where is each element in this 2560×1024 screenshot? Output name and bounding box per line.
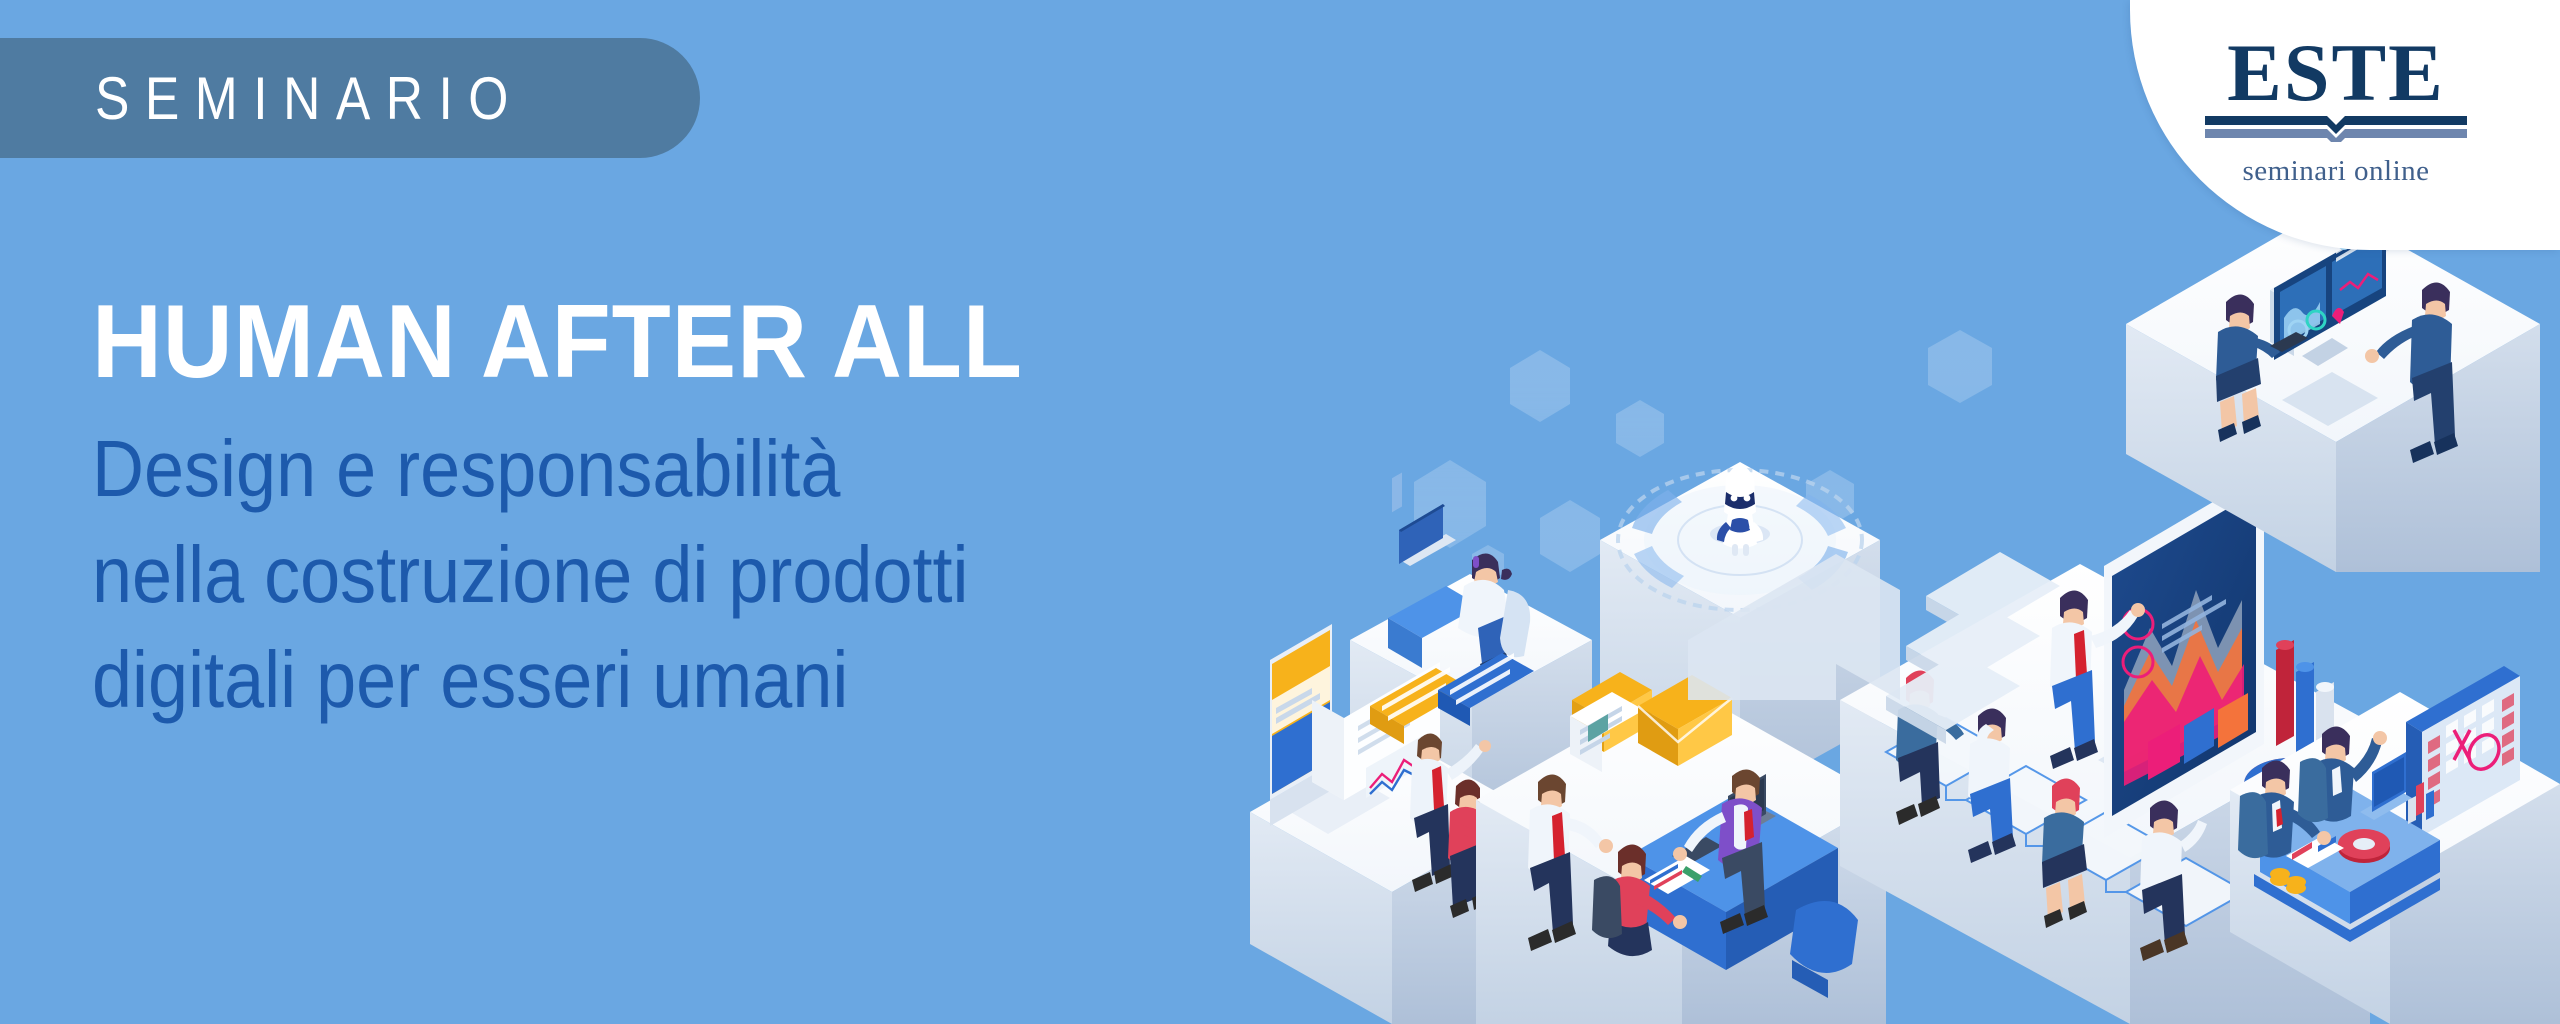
platform-kiosk [2126, 206, 2540, 572]
touchscreen-kiosk [2270, 222, 2414, 426]
seminario-badge: SEMINARIO [0, 38, 700, 158]
dashboard-monitor [2098, 472, 2264, 838]
platform-bar-chart [2244, 640, 2336, 816]
este-logo: ESTE seminari online [2186, 34, 2486, 188]
office-chair [1790, 901, 1858, 998]
stairs [1886, 552, 2060, 744]
subtitle-line-2: nella costruzione di prodotti [92, 522, 1280, 628]
este-logo-rule [2205, 116, 2467, 142]
calendar-board [2406, 666, 2520, 836]
meeting-table [2254, 752, 2440, 942]
person-woman-blue [2042, 778, 2087, 928]
people-mobile [1410, 733, 1497, 918]
seminario-badge-label: SEMINARIO [95, 64, 524, 133]
person-kiosk-woman [2216, 294, 2308, 442]
flow-diagram [1886, 718, 2246, 926]
subtitle-line-1: Design e responsabilità [92, 416, 1280, 522]
este-wordmark: ESTE [2186, 34, 2486, 112]
platform-dashboard [1840, 472, 2370, 1024]
book-rule-icon [2205, 116, 2467, 142]
subtitle-line-3: digitali per esseri umani [92, 627, 1280, 733]
person-kiosk-man [2365, 282, 2458, 463]
person-bending-right [1673, 769, 1768, 934]
wall-panel [1688, 554, 1900, 700]
person-meeting-b [2298, 726, 2387, 822]
seminar-banner: SEMINARIO HUMAN AFTER ALL Design e respo… [0, 0, 2560, 1024]
platform-meeting [2230, 666, 2560, 1024]
floating-cubes [1414, 330, 1992, 582]
page-title: HUMAN AFTER ALL [92, 290, 1320, 394]
person-right-pointing [2140, 800, 2207, 961]
platform-robot [1600, 462, 1880, 800]
headline-block: HUMAN AFTER ALL Design e responsabilità … [92, 290, 1412, 733]
person-meeting-a [2238, 760, 2331, 858]
este-tagline: seminari online [2186, 155, 2486, 188]
person-seated-woman [1592, 844, 1687, 956]
robot-figure [1710, 465, 1770, 556]
platform-team-desk [1476, 672, 1886, 1024]
person-standing-left [1528, 774, 1613, 951]
folder-mail-icons [1570, 672, 1732, 772]
este-logo-panel[interactable]: ESTE seminari online [2130, 0, 2560, 250]
person-thinking [1968, 708, 2016, 863]
person-presenter [2050, 590, 2145, 769]
team-desk-furniture [1628, 774, 1838, 970]
person-woman-red [1896, 670, 1964, 825]
